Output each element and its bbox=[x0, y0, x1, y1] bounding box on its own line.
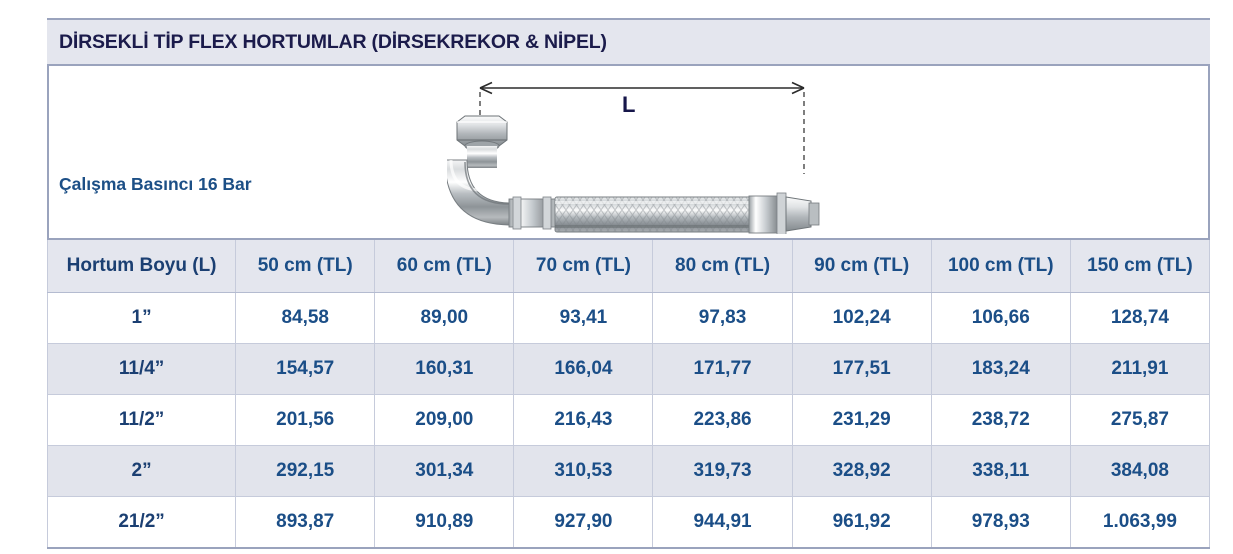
product-illustration: L bbox=[447, 70, 837, 234]
price-cell: 978,93 bbox=[931, 497, 1070, 549]
dimension-label-l: L bbox=[622, 92, 635, 118]
column-header-80cm: 80 cm (TL) bbox=[653, 239, 792, 293]
column-header-60cm: 60 cm (TL) bbox=[375, 239, 514, 293]
elbow-flex-hose-icon bbox=[447, 70, 837, 234]
price-cell: 238,72 bbox=[931, 395, 1070, 446]
price-cell: 177,51 bbox=[792, 344, 931, 395]
hero-band: Çalışma Basıncı 16 Bar L bbox=[49, 66, 1208, 238]
row-size-label: 11/4” bbox=[48, 344, 236, 395]
column-header-50cm: 50 cm (TL) bbox=[236, 239, 375, 293]
row-size-label: 1” bbox=[48, 293, 236, 344]
price-cell: 1.063,99 bbox=[1070, 497, 1209, 549]
page-title: DİRSEKLİ TİP FLEX HORTUMLAR (DİRSEKREKOR… bbox=[47, 31, 607, 54]
price-table: Hortum Boyu (L) 50 cm (TL) 60 cm (TL) 70… bbox=[47, 238, 1210, 549]
price-sheet: DİRSEKLİ TİP FLEX HORTUMLAR (DİRSEKREKOR… bbox=[0, 0, 1233, 554]
column-header-100cm: 100 cm (TL) bbox=[931, 239, 1070, 293]
table-row: 11/4” 154,57 160,31 166,04 171,77 177,51… bbox=[48, 344, 1210, 395]
column-header-150cm: 150 cm (TL) bbox=[1070, 239, 1209, 293]
price-cell: 97,83 bbox=[653, 293, 792, 344]
row-size-label: 2” bbox=[48, 446, 236, 497]
price-cell: 160,31 bbox=[375, 344, 514, 395]
price-cell: 223,86 bbox=[653, 395, 792, 446]
price-cell: 128,74 bbox=[1070, 293, 1209, 344]
price-cell: 183,24 bbox=[931, 344, 1070, 395]
title-bar: DİRSEKLİ TİP FLEX HORTUMLAR (DİRSEKREKOR… bbox=[47, 18, 1210, 66]
table-row: 2” 292,15 301,34 310,53 319,73 328,92 33… bbox=[48, 446, 1210, 497]
price-cell: 301,34 bbox=[375, 446, 514, 497]
price-cell: 275,87 bbox=[1070, 395, 1209, 446]
table-row: 11/2” 201,56 209,00 216,43 223,86 231,29… bbox=[48, 395, 1210, 446]
price-cell: 166,04 bbox=[514, 344, 653, 395]
price-cell: 154,57 bbox=[236, 344, 375, 395]
price-cell: 319,73 bbox=[653, 446, 792, 497]
price-cell: 910,89 bbox=[375, 497, 514, 549]
price-cell: 310,53 bbox=[514, 446, 653, 497]
price-cell: 893,87 bbox=[236, 497, 375, 549]
column-header-90cm: 90 cm (TL) bbox=[792, 239, 931, 293]
price-cell: 328,92 bbox=[792, 446, 931, 497]
price-cell: 102,24 bbox=[792, 293, 931, 344]
price-cell: 93,41 bbox=[514, 293, 653, 344]
price-cell: 201,56 bbox=[236, 395, 375, 446]
price-cell: 384,08 bbox=[1070, 446, 1209, 497]
row-size-label: 11/2” bbox=[48, 395, 236, 446]
price-cell: 216,43 bbox=[514, 395, 653, 446]
price-cell: 944,91 bbox=[653, 497, 792, 549]
price-cell: 89,00 bbox=[375, 293, 514, 344]
price-cell: 292,15 bbox=[236, 446, 375, 497]
working-pressure-label: Çalışma Basıncı 16 Bar bbox=[59, 174, 252, 195]
table-row: 21/2” 893,87 910,89 927,90 944,91 961,92… bbox=[48, 497, 1210, 549]
price-cell: 338,11 bbox=[931, 446, 1070, 497]
column-header-hortum-boyu: Hortum Boyu (L) bbox=[48, 239, 236, 293]
table-row: 1” 84,58 89,00 93,41 97,83 102,24 106,66… bbox=[48, 293, 1210, 344]
column-header-70cm: 70 cm (TL) bbox=[514, 239, 653, 293]
price-cell: 211,91 bbox=[1070, 344, 1209, 395]
table-header-row: Hortum Boyu (L) 50 cm (TL) 60 cm (TL) 70… bbox=[48, 239, 1210, 293]
price-cell: 84,58 bbox=[236, 293, 375, 344]
price-cell: 171,77 bbox=[653, 344, 792, 395]
price-cell: 927,90 bbox=[514, 497, 653, 549]
price-cell: 209,00 bbox=[375, 395, 514, 446]
price-cell: 961,92 bbox=[792, 497, 931, 549]
price-cell: 231,29 bbox=[792, 395, 931, 446]
row-size-label: 21/2” bbox=[48, 497, 236, 549]
price-cell: 106,66 bbox=[931, 293, 1070, 344]
